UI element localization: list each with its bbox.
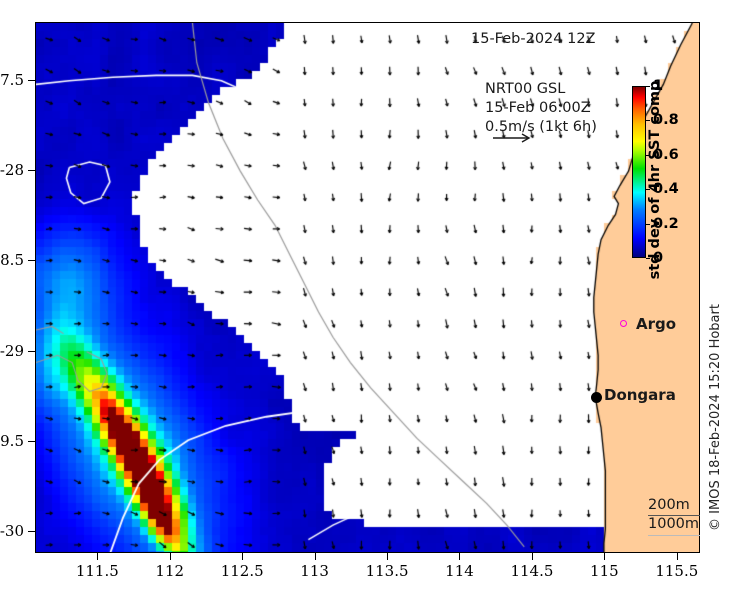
x-axis-tick	[604, 553, 605, 560]
x-axis-tick	[532, 553, 533, 560]
product-time-label: 15-Feb 06:00Z	[485, 99, 597, 118]
y-axis-tick	[28, 80, 35, 81]
map-plot-area[interactable]	[35, 22, 700, 553]
x-axis-tick-label: 112	[155, 562, 184, 580]
x-axis-tick	[170, 553, 171, 560]
y-axis-tick-label: -29.5	[0, 432, 24, 450]
title-date-label: 15-Feb-2024 12Z	[471, 31, 595, 47]
copyright-label: © IMOS 18-Feb-2024 15:20 Hobart	[708, 304, 723, 531]
y-axis-tick-label: -27.5	[0, 71, 24, 89]
x-axis-tick-label: 113	[300, 562, 329, 580]
contour-quiver-layer	[36, 23, 700, 553]
x-axis-tick-label: 114	[445, 562, 474, 580]
depth-key-200m-label: 200m	[648, 497, 700, 514]
y-axis-tick-label: -28	[0, 161, 24, 179]
x-axis-tick-label: 114.5	[510, 562, 553, 580]
x-axis-tick-label: 113.5	[366, 562, 409, 580]
x-axis-tick	[459, 553, 460, 560]
colorbar-gradient	[632, 86, 646, 258]
argo-marker-icon	[620, 320, 627, 327]
dongara-marker-icon	[591, 392, 602, 403]
x-axis-tick	[315, 553, 316, 560]
y-axis-tick-label: -29	[0, 342, 24, 360]
x-axis-tick	[97, 553, 98, 560]
quiver-reference-arrow-icon	[492, 131, 536, 145]
y-axis-tick-label: -28.5	[0, 251, 24, 269]
y-axis-tick	[28, 531, 35, 532]
colorbar-title: std dev of 4hr SST comp	[647, 81, 663, 280]
x-axis-tick-label: 112.5	[221, 562, 264, 580]
dongara-place-label: Dongara	[604, 386, 676, 404]
x-axis-tick-label: 111.5	[76, 562, 119, 580]
x-axis-tick-label: 115	[590, 562, 619, 580]
colorbar[interactable]: 00.20.40.60.81	[632, 86, 646, 258]
depth-contour-key: 200m 1000m	[648, 497, 700, 536]
y-axis-tick	[28, 170, 35, 171]
y-axis-tick	[28, 351, 35, 352]
product-name-label: NRT00 GSL	[485, 80, 597, 99]
y-axis-tick	[28, 441, 35, 442]
y-axis-tick-label: -30	[0, 522, 24, 540]
x-axis-tick-label: 115.5	[655, 562, 698, 580]
argo-legend-label: Argo	[636, 315, 676, 333]
x-axis-tick	[677, 553, 678, 560]
x-axis-tick	[242, 553, 243, 560]
product-info-block: NRT00 GSL 15-Feb 06:00Z 0.5m/s (1kt 6h)	[485, 80, 597, 137]
depth-key-1000m-label: 1000m	[648, 516, 700, 533]
depth-key-1000m-rule	[648, 535, 700, 536]
x-axis-tick	[387, 553, 388, 560]
y-axis-tick	[28, 260, 35, 261]
